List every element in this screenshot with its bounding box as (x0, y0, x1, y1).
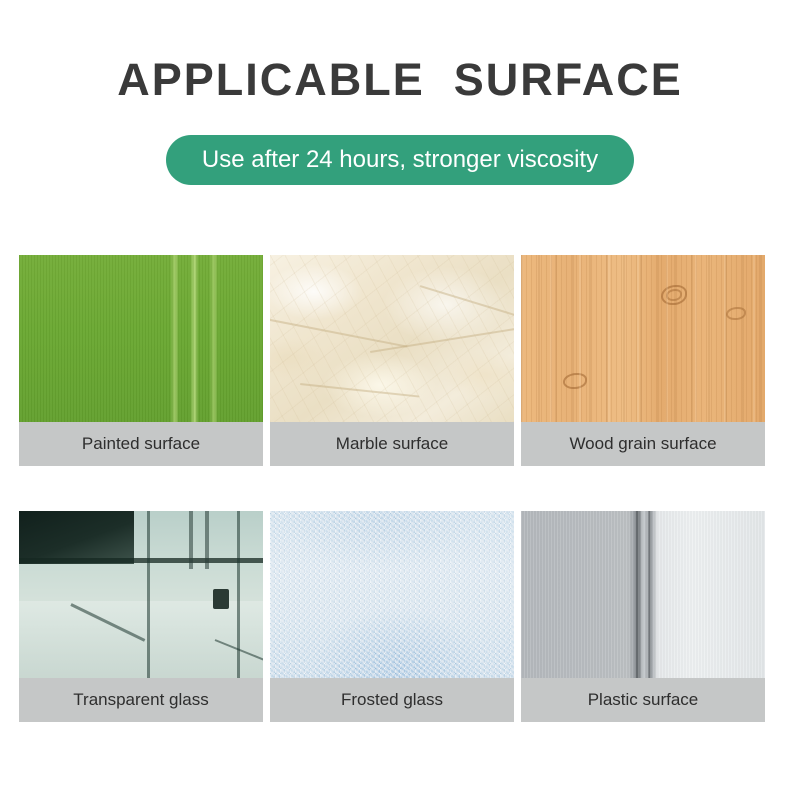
card-caption: Marble surface (270, 422, 514, 466)
page-title: APPLICABLE SURFACE (0, 52, 800, 108)
card-transparent-glass[interactable]: Transparent glass (19, 511, 263, 722)
painted-surface-image (19, 255, 263, 422)
badge-container: Use after 24 hours, stronger viscosity (0, 135, 800, 185)
card-caption: Plastic surface (521, 678, 765, 722)
card-frosted-glass[interactable]: Frosted glass (270, 511, 514, 722)
transparent-glass-image (19, 511, 263, 678)
card-marble-surface[interactable]: Marble surface (270, 255, 514, 466)
plastic-surface-image (521, 511, 765, 678)
card-painted-surface[interactable]: Painted surface (19, 255, 263, 466)
card-plastic-surface[interactable]: Plastic surface (521, 511, 765, 722)
wood-grain-surface-image (521, 255, 765, 422)
frosted-glass-image (270, 511, 514, 678)
card-caption: Frosted glass (270, 678, 514, 722)
status-badge: Use after 24 hours, stronger viscosity (166, 135, 634, 185)
card-caption: Wood grain surface (521, 422, 765, 466)
card-caption: Transparent glass (19, 678, 263, 722)
surface-grid: Painted surface Marble surface Wood grai… (19, 255, 765, 722)
card-caption: Painted surface (19, 422, 263, 466)
card-wood-grain-surface[interactable]: Wood grain surface (521, 255, 765, 466)
marble-surface-image (270, 255, 514, 422)
